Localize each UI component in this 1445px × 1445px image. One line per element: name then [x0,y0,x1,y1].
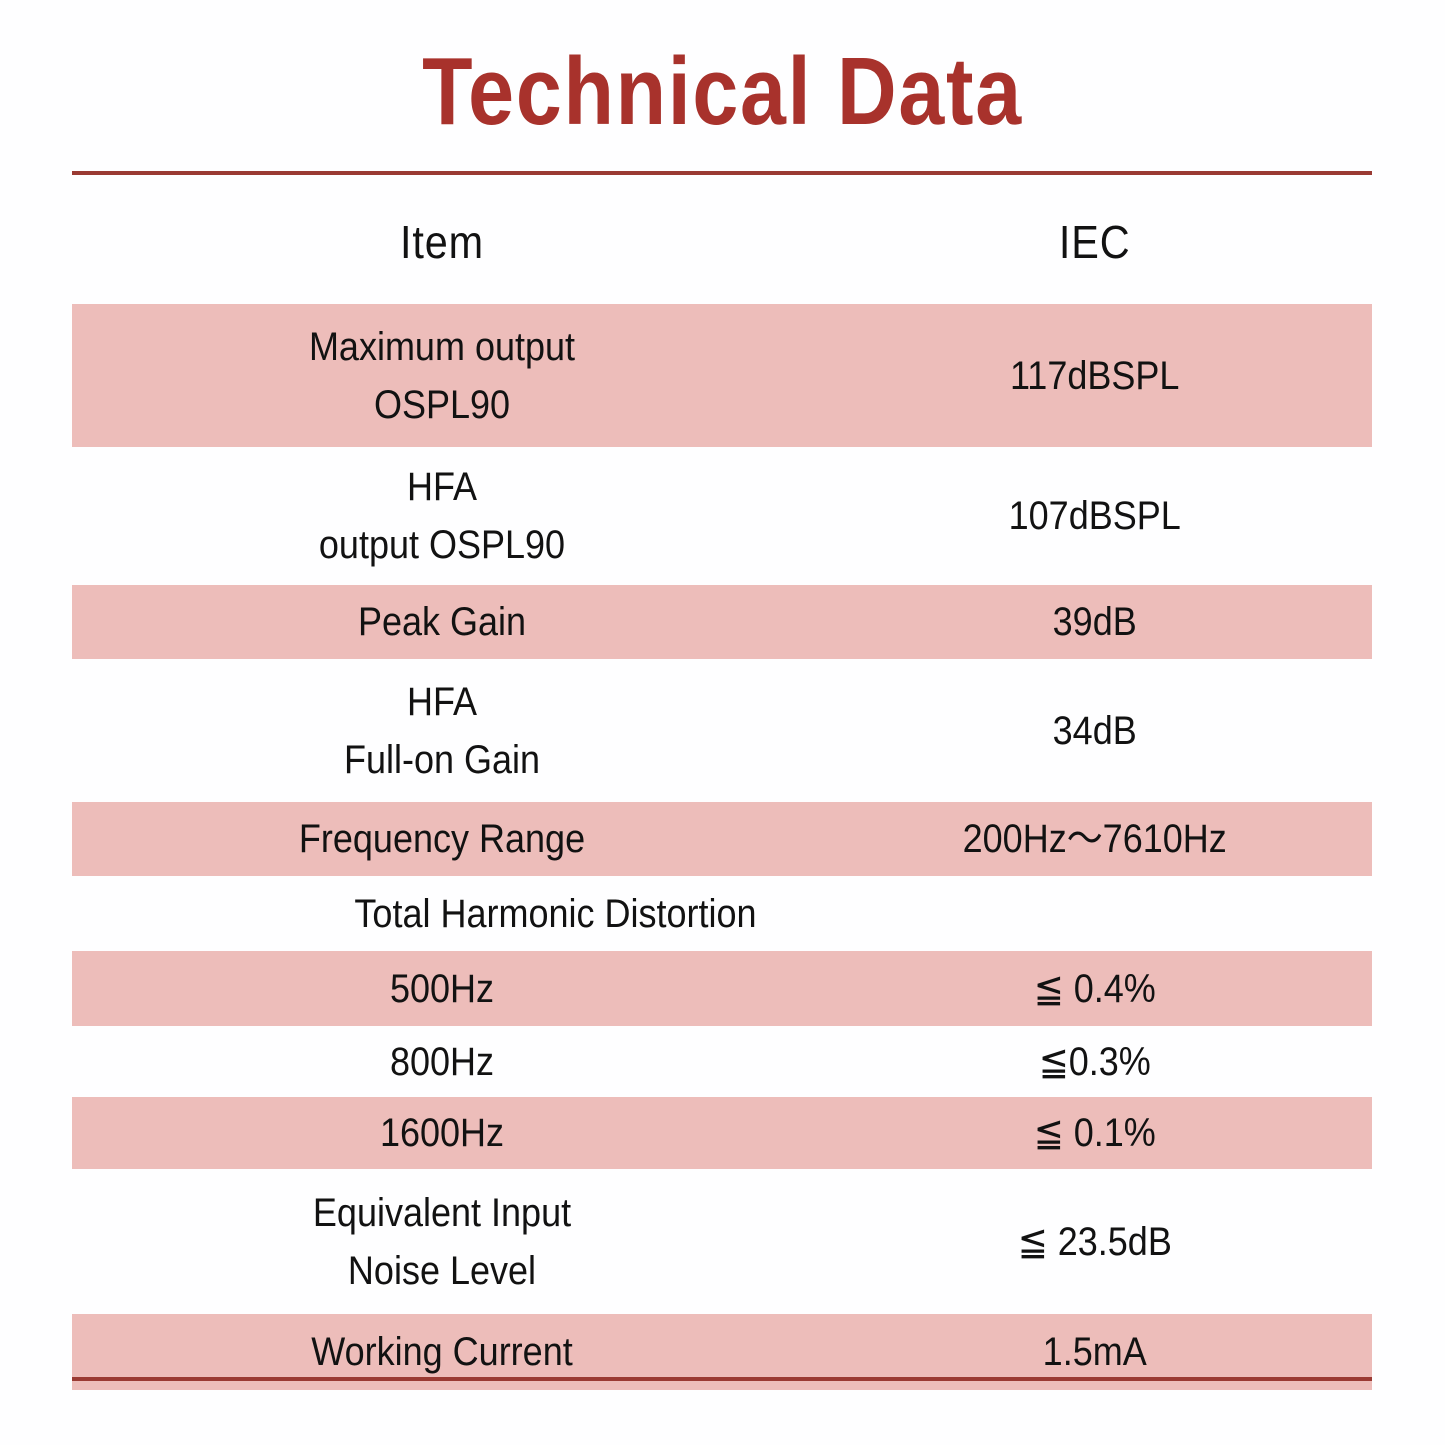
table-row: Frequency Range 200Hz～7610Hz [72,802,1372,876]
row-label-line: Maximum output [109,321,775,373]
row-label: Maximum output OSPL90 [109,321,775,431]
row-label: 500Hz [109,963,775,1015]
technical-data-sheet: Technical Data Item IEC Maximum output O… [0,0,1445,1445]
table-row: Equivalent Input Noise Level ≦ 23.5dB [72,1169,1372,1314]
table-bottom-rule [72,1377,1372,1381]
row-label-line: HFA [109,461,775,513]
row-label: 800Hz [109,1036,775,1088]
table-row: Peak Gain 39dB [72,585,1372,659]
row-value: 117dBSPL [840,350,1344,402]
row-label-line: Noise Level [109,1245,775,1297]
column-header-item: Item [109,214,775,270]
title-divider-rule [72,171,1372,175]
row-value: 1.5mA [840,1326,1344,1378]
technical-data-table: Item IEC Maximum output OSPL90 117dBSPL … [72,180,1372,1390]
row-label-line: Full-on Gain [109,734,775,786]
row-label: Frequency Range [109,813,775,865]
row-label: Working Current [109,1326,775,1378]
row-value: 107dBSPL [840,490,1344,542]
table-row: Maximum output OSPL90 117dBSPL [72,304,1372,447]
table-row: 800Hz ≦0.3% [72,1026,1372,1097]
row-value: 200Hz～7610Hz [840,813,1344,865]
row-label-line: 800Hz [109,1036,775,1088]
row-label: HFA output OSPL90 [109,461,775,571]
row-label-line: 1600Hz [109,1107,775,1159]
row-label-line: output OSPL90 [109,519,775,571]
column-header-iec: IEC [840,214,1344,270]
row-value: 39dB [840,596,1344,648]
row-label-line: OSPL90 [109,379,775,431]
table-section-row: Total Harmonic Distortion [72,876,1372,951]
row-label-line: Working Current [109,1326,775,1378]
section-label: Total Harmonic Distortion [137,889,1307,939]
table-row: 1600Hz ≦ 0.1% [72,1097,1372,1169]
row-label: 1600Hz [109,1107,775,1159]
table-row: HFA Full-on Gain 34dB [72,659,1372,802]
row-value: ≦ 0.4% [840,963,1344,1015]
row-label-line: 500Hz [109,963,775,1015]
table-row: HFA output OSPL90 107dBSPL [72,447,1372,585]
row-label: HFA Full-on Gain [109,676,775,786]
table-header-row: Item IEC [72,180,1372,304]
row-label: Peak Gain [109,596,775,648]
table-row: 500Hz ≦ 0.4% [72,951,1372,1026]
row-value: 34dB [840,705,1344,757]
page-title: Technical Data [101,36,1344,148]
row-label: Equivalent Input Noise Level [109,1187,775,1297]
row-value: ≦ 0.1% [840,1107,1344,1159]
row-value: ≦ 23.5dB [840,1216,1344,1268]
row-label-line: Peak Gain [109,596,775,648]
row-label-line: Frequency Range [109,813,775,865]
row-label-line: Equivalent Input [109,1187,775,1239]
row-label-line: HFA [109,676,775,728]
row-value: ≦0.3% [840,1036,1344,1088]
